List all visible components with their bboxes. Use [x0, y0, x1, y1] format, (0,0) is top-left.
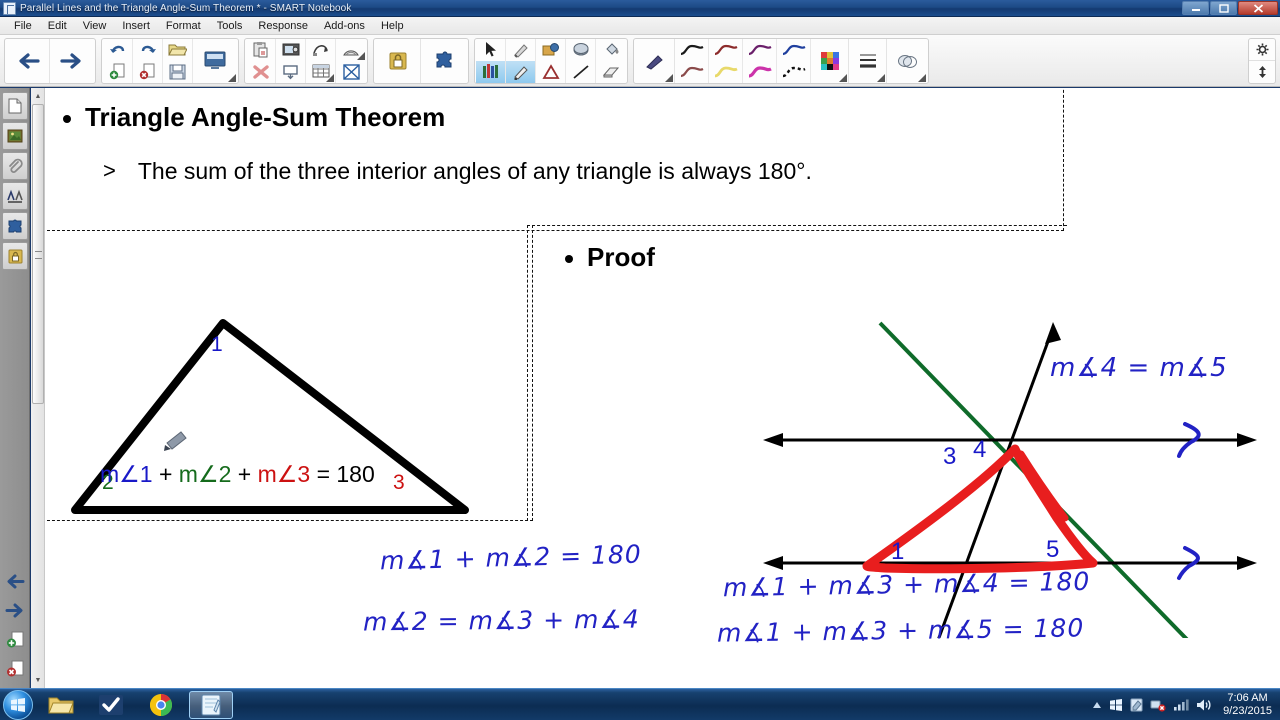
window-title: Parallel Lines and the Triangle Angle-Su… — [20, 3, 351, 14]
left-sidebar — [0, 88, 30, 688]
add-page-button[interactable] — [103, 61, 132, 83]
eq-term-1: m∠1 — [100, 461, 153, 487]
shapes-tool[interactable] — [536, 39, 565, 61]
sidebar-item-gallery[interactable] — [2, 122, 28, 150]
proof-label-5: 5 — [1046, 536, 1059, 564]
sidebar-delete-page[interactable] — [3, 655, 27, 681]
chevron-down-icon — [228, 74, 236, 82]
action-center-icon[interactable] — [1130, 698, 1143, 712]
add-ons-button[interactable] — [421, 39, 467, 83]
stroke-gray[interactable] — [675, 61, 708, 83]
menu-format[interactable]: Format — [158, 18, 209, 34]
transparency-button[interactable] — [336, 61, 366, 83]
network-icon[interactable] — [1150, 698, 1166, 712]
taskbar-smart-notebook[interactable] — [189, 691, 233, 719]
chevron-down-icon — [877, 74, 885, 82]
sidebar-item-page-sorter[interactable] — [2, 92, 28, 120]
chevron-down-icon — [839, 74, 847, 82]
open-button[interactable] — [163, 39, 192, 61]
toolbar-group-strokes — [633, 38, 929, 84]
shape-fill-tool[interactable] — [566, 39, 595, 61]
scroll-thumb[interactable] — [32, 104, 44, 404]
stroke-black[interactable] — [675, 39, 708, 61]
windows-flag-icon[interactable] — [1109, 698, 1123, 712]
redo-button[interactable] — [133, 39, 162, 61]
main-toolbar — [0, 35, 1280, 87]
stroke-yellow[interactable] — [709, 61, 742, 83]
stroke-blue[interactable] — [777, 39, 810, 61]
delete-page-button[interactable] — [133, 61, 162, 83]
theorem-statement-row: > The sum of the three interior angles o… — [103, 158, 812, 186]
screen-capture-button[interactable] — [276, 39, 305, 61]
toolbar-group-file — [101, 38, 239, 84]
proof-label-4: 4 — [973, 436, 986, 464]
handwriting-right-line-2: m∡1 + m∡3 + m∡5 = 180 — [717, 613, 1085, 647]
insert-table-button[interactable] — [306, 61, 335, 83]
page-title: Triangle Angle-Sum Theorem — [85, 103, 445, 133]
toolbar-group-objects — [244, 38, 368, 84]
menu-bar: File Edit View Insert Format Tools Respo… — [0, 17, 1280, 35]
full-screen-button[interactable] — [276, 61, 305, 83]
menu-edit[interactable]: Edit — [40, 18, 75, 34]
eraser-tool[interactable] — [596, 61, 626, 83]
stroke-purple[interactable] — [743, 39, 776, 61]
sidebar-add-page[interactable] — [3, 626, 27, 652]
measurement-tool-button[interactable] — [336, 39, 366, 61]
window-controls — [1182, 1, 1278, 15]
proof-label-1: 1 — [891, 538, 904, 566]
line-properties-button[interactable] — [849, 39, 887, 83]
minimize-button[interactable] — [1182, 1, 1209, 15]
menu-addons[interactable]: Add-ons — [316, 18, 373, 34]
scroll-down-arrow[interactable]: ▼ — [33, 674, 43, 686]
menu-file[interactable]: File — [6, 18, 40, 34]
sidebar-item-properties[interactable] — [2, 182, 28, 210]
next-page-button[interactable] — [50, 39, 94, 83]
lines-tool[interactable] — [536, 61, 565, 83]
signal-icon[interactable] — [1173, 698, 1189, 711]
menu-insert[interactable]: Insert — [114, 18, 158, 34]
theorem-heading-row: Triangle Angle-Sum Theorem — [63, 103, 445, 133]
proof-note-angle-equality: m∡4 = m∡5 — [1050, 353, 1228, 383]
bullet-dot — [565, 255, 573, 263]
notebook-icon — [3, 2, 16, 15]
title-bar: Parallel Lines and the Triangle Angle-Su… — [0, 0, 1280, 17]
theorem-statement: The sum of the three interior angles of … — [138, 158, 812, 186]
start-button[interactable] — [3, 690, 33, 720]
scroll-up-arrow[interactable]: ▲ — [33, 90, 43, 102]
screen-shade-button[interactable] — [193, 39, 237, 83]
stroke-darkred[interactable] — [709, 39, 742, 61]
clock-date: 9/23/2015 — [1223, 705, 1272, 718]
pen-tool[interactable] — [506, 61, 535, 83]
up-down-arrow-icon[interactable] — [1249, 61, 1275, 83]
pens-tool[interactable] — [476, 61, 505, 83]
marker-swatch[interactable] — [635, 39, 675, 83]
color-palette-button[interactable] — [811, 39, 849, 83]
taskbar-explorer[interactable] — [39, 691, 83, 719]
proof-label-3: 3 — [943, 443, 956, 471]
triangle-figure — [55, 218, 505, 538]
triangle-label-1: 1 — [211, 333, 223, 357]
selection-box-proof-left — [527, 225, 528, 521]
maximize-button[interactable] — [1210, 1, 1237, 15]
save-button[interactable] — [163, 61, 192, 83]
proof-title: Proof — [587, 243, 655, 273]
gear-icon[interactable] — [1249, 39, 1275, 61]
chevron-down-icon — [665, 74, 673, 82]
windows-taskbar: 7:06 AM 9/23/2015 — [0, 688, 1280, 720]
creative-pen-tool[interactable] — [506, 39, 535, 61]
eq-term-3: m∠3 — [258, 461, 311, 487]
toolbar-group-tools — [474, 38, 628, 84]
close-button[interactable] — [1238, 1, 1278, 15]
taskbar-chrome[interactable] — [139, 691, 183, 719]
line-tool[interactable] — [566, 61, 595, 83]
eq-result: = 180 — [317, 461, 375, 487]
chevron-down-icon — [918, 74, 926, 82]
eq-op-2: + — [238, 461, 251, 487]
transparency-fill-button[interactable] — [887, 39, 927, 83]
vertical-scrollbar[interactable]: ▲ ▼ — [31, 88, 45, 688]
triangle-label-3: 3 — [393, 471, 405, 495]
menu-view[interactable]: View — [75, 18, 115, 34]
taskbar-clock[interactable]: 7:06 AM 9/23/2015 — [1219, 692, 1272, 718]
chevron-down-icon — [326, 74, 334, 82]
sidebar-item-response[interactable] — [2, 242, 28, 270]
insert-shape-button[interactable] — [306, 39, 335, 61]
menu-response[interactable]: Response — [250, 18, 316, 34]
menu-help[interactable]: Help — [373, 18, 412, 34]
pencil-cursor-icon — [164, 432, 186, 451]
undo-button[interactable] — [103, 39, 132, 61]
system-tray: 7:06 AM 9/23/2015 — [1092, 692, 1280, 718]
stroke-dotted[interactable] — [777, 61, 810, 83]
notebook-page-canvas[interactable]: Triangle Angle-Sum Theorem > The sum of … — [45, 88, 1280, 688]
sidebar-item-attachments[interactable] — [2, 152, 28, 180]
lock-button[interactable] — [375, 39, 421, 83]
triangle-equation: m∠1 + m∠2 + m∠3 = 180 — [100, 461, 375, 488]
eq-op-1: + — [159, 461, 172, 487]
sidebar-item-addons[interactable] — [2, 212, 28, 240]
show-hidden-icons[interactable] — [1092, 701, 1102, 709]
smart-notebook-window: Parallel Lines and the Triangle Angle-Su… — [0, 0, 1280, 720]
taskbar-checkmark-app[interactable] — [89, 691, 133, 719]
stroke-magenta[interactable] — [743, 61, 776, 83]
bullet-dot — [63, 115, 71, 123]
sub-bullet-marker: > — [103, 158, 116, 184]
handwriting-left-line-2: m∡2 = m∡3 + m∡4 — [363, 605, 640, 637]
chevron-down-icon — [357, 52, 365, 60]
sidebar-next-page[interactable] — [3, 597, 27, 623]
volume-icon[interactable] — [1196, 698, 1212, 712]
previous-page-button[interactable] — [6, 39, 50, 83]
proof-heading-row: Proof — [565, 243, 655, 273]
delete-button[interactable] — [246, 61, 275, 83]
paint-bucket-icon[interactable] — [596, 39, 626, 61]
handwriting-left-line-1: m∡1 + m∡2 = 180 — [380, 540, 642, 576]
menu-tools[interactable]: Tools — [209, 18, 251, 34]
select-tool[interactable] — [476, 39, 505, 61]
toolbar-group-extras — [373, 38, 469, 84]
paste-button[interactable] — [246, 39, 275, 61]
toolbar-right-buttons — [1248, 38, 1276, 84]
clock-time: 7:06 AM — [1223, 692, 1272, 705]
eq-term-2: m∠2 — [179, 461, 232, 487]
sidebar-previous-page[interactable] — [3, 568, 27, 594]
toolbar-group-navigation — [4, 38, 96, 84]
